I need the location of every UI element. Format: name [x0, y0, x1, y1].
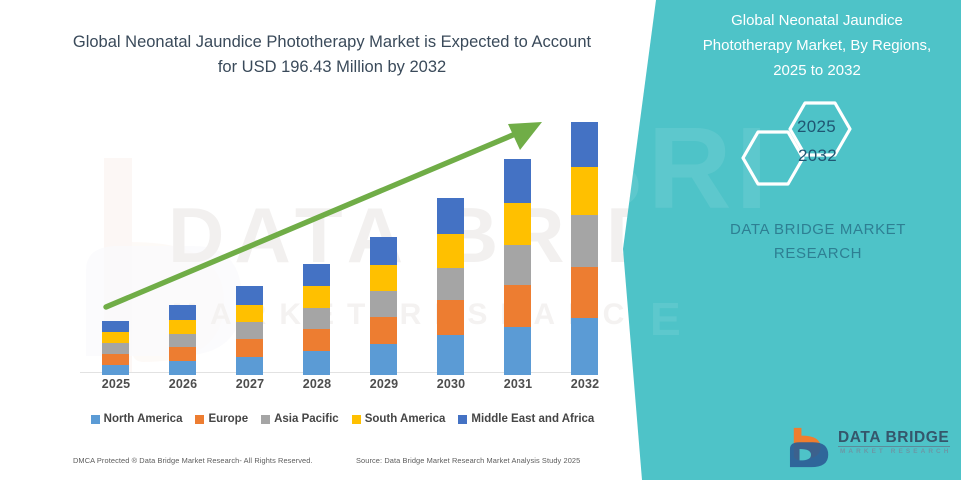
legend-item-middle-east-and-africa[interactable]: Middle East and Africa	[458, 413, 594, 425]
bar-segment-north-america	[303, 351, 330, 375]
panel-brand-line2: RESEARCH	[774, 245, 862, 262]
bar-segment-north-america	[236, 357, 263, 375]
bar-segment-north-america	[102, 365, 129, 375]
bar-segment-north-america	[504, 327, 531, 375]
bar-2030	[437, 198, 464, 375]
hexagon-group: 2032 2025	[730, 88, 940, 198]
bar-segment-north-america	[571, 318, 598, 375]
logo-divider	[838, 446, 950, 447]
panel-brand-text: DATA BRIDGE MARKET RESEARCH	[708, 218, 928, 266]
bar-segment-middle-east-and-africa	[571, 122, 598, 167]
bar-segment-north-america	[370, 344, 397, 375]
bar-segment-europe	[303, 329, 330, 351]
x-axis-label-2025: 2025	[86, 377, 146, 391]
bar-segment-middle-east-and-africa	[169, 305, 196, 320]
bar-segment-asia-pacific	[169, 334, 196, 347]
bar-segment-europe	[437, 300, 464, 334]
bar-segment-south-america	[102, 332, 129, 343]
bar-segment-europe	[169, 347, 196, 361]
x-axis-label-2026: 2026	[153, 377, 213, 391]
bar-segment-south-america	[303, 286, 330, 307]
bar-2029	[370, 237, 397, 375]
data-bridge-mark-icon	[788, 426, 834, 470]
bar-segment-asia-pacific	[504, 245, 531, 285]
plot-area	[80, 110, 600, 375]
x-axis-label-2032: 2032	[555, 377, 615, 391]
bar-segment-middle-east-and-africa	[236, 286, 263, 304]
legend-swatch-north-america	[91, 415, 100, 424]
legend-label-south-america: South America	[365, 413, 446, 425]
bar-2031	[504, 159, 531, 375]
chart-panel: DATA BRIDGE MARKET RESEARCH Global Neona…	[0, 0, 660, 480]
bar-segment-asia-pacific	[102, 343, 129, 354]
legend-swatch-asia-pacific	[261, 415, 270, 424]
chart-legend: North AmericaEuropeAsia PacificSouth Ame…	[80, 409, 605, 429]
bar-segment-europe	[236, 339, 263, 357]
hexagon-outlines-icon	[730, 88, 940, 198]
panel-brand-line1: DATA BRIDGE MARKET	[730, 221, 906, 238]
bar-segment-europe	[370, 317, 397, 344]
legend-swatch-europe	[195, 415, 204, 424]
legend-label-asia-pacific: Asia Pacific	[274, 413, 339, 425]
data-bridge-logo: DATA BRIDGE MARKET RESEARCH	[788, 424, 953, 472]
bar-2025	[102, 321, 129, 375]
legend-swatch-south-america	[352, 415, 361, 424]
x-axis-label-2027: 2027	[220, 377, 280, 391]
bar-segment-asia-pacific	[437, 268, 464, 300]
bar-segment-middle-east-and-africa	[102, 321, 129, 332]
hexagon-label-2032: 2032	[798, 146, 837, 166]
bar-segment-south-america	[169, 320, 196, 334]
legend-item-europe[interactable]: Europe	[195, 413, 248, 425]
bar-segment-south-america	[437, 234, 464, 268]
regions-panel: BRI R E Global Neonatal Jaundice Phototh…	[600, 0, 961, 480]
bar-segment-middle-east-and-africa	[437, 198, 464, 234]
x-axis-label-2028: 2028	[287, 377, 347, 391]
bar-2027	[236, 286, 263, 375]
bar-segment-south-america	[571, 167, 598, 214]
chart-title: Global Neonatal Jaundice Phototherapy Ma…	[62, 30, 602, 80]
bar-segment-asia-pacific	[303, 308, 330, 329]
bar-segment-middle-east-and-africa	[504, 159, 531, 202]
bar-segment-middle-east-and-africa	[370, 237, 397, 265]
bar-segment-north-america	[169, 361, 196, 375]
x-axis-label-2031: 2031	[488, 377, 548, 391]
bar-segment-europe	[504, 285, 531, 326]
legend-swatch-middle-east-and-africa	[458, 415, 467, 424]
legend-label-north-america: North America	[104, 413, 183, 425]
footer-source: Source: Data Bridge Market Research Mark…	[356, 456, 580, 465]
bar-segment-europe	[571, 267, 598, 317]
legend-label-middle-east-and-africa: Middle East and Africa	[471, 413, 594, 425]
logo-name: DATA BRIDGE	[838, 430, 949, 446]
bar-segment-south-america	[236, 305, 263, 322]
footer-bar: DMCA Protected ® Data Bridge Market Rese…	[60, 456, 620, 472]
bar-2026	[169, 305, 196, 375]
regions-panel-title: Global Neonatal Jaundice Phototherapy Ma…	[688, 8, 946, 83]
logo-tagline: MARKET RESEARCH	[840, 449, 951, 455]
bar-2032	[571, 122, 598, 375]
bar-segment-asia-pacific	[236, 322, 263, 339]
legend-label-europe: Europe	[208, 413, 248, 425]
x-axis-label-2029: 2029	[354, 377, 414, 391]
bar-segment-europe	[102, 354, 129, 365]
legend-item-south-america[interactable]: South America	[352, 413, 446, 425]
bar-segment-asia-pacific	[571, 215, 598, 267]
legend-item-north-america[interactable]: North America	[91, 413, 183, 425]
bar-2028	[303, 264, 330, 375]
x-axis-label-2030: 2030	[421, 377, 481, 391]
legend-item-asia-pacific[interactable]: Asia Pacific	[261, 413, 339, 425]
footer-copyright: DMCA Protected ® Data Bridge Market Rese…	[73, 456, 313, 465]
hexagon-label-2025: 2025	[797, 117, 836, 137]
bar-segment-asia-pacific	[370, 291, 397, 316]
infographic-canvas: DATA BRIDGE MARKET RESEARCH Global Neona…	[0, 0, 961, 480]
bar-segment-south-america	[370, 265, 397, 291]
bar-segment-middle-east-and-africa	[303, 264, 330, 286]
bar-segment-south-america	[504, 203, 531, 245]
bar-segment-north-america	[437, 335, 464, 375]
